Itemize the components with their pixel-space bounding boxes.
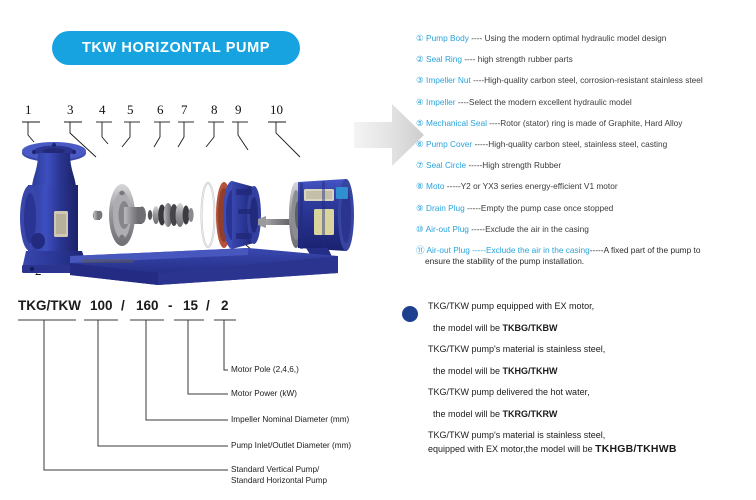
page-title-banner: TKW HORIZONTAL PUMP xyxy=(52,31,300,65)
part-item: ② Seal Ring ---- high strength rubber pa… xyxy=(416,54,752,65)
part-number: ⑤ xyxy=(416,118,424,128)
part-number: ② xyxy=(416,54,424,64)
part-description: Using the modern optimal hydraulic model… xyxy=(485,33,667,43)
model-code-label-impeller-dia: Impeller Nominal Diameter (mm) xyxy=(231,415,349,426)
part-name: Pump Body xyxy=(426,33,469,43)
part-item: ③ Impeller Nut ----High-quality carbon s… xyxy=(416,75,752,86)
part-item: ① Pump Body ---- Using the modern optima… xyxy=(416,33,752,44)
variant-main: TKG/TKW pump delivered the hot water, xyxy=(400,386,752,398)
part-item: ⑥ Pump Cover -----High-quality carbon st… xyxy=(416,139,752,150)
page-title: TKW HORIZONTAL PUMP xyxy=(82,40,270,56)
callout-number-3: 3 xyxy=(67,102,74,118)
parts-list: ① Pump Body ---- Using the modern optima… xyxy=(416,33,752,278)
variant-sub: the model will be TKRG/TKRW xyxy=(400,408,752,420)
part-description: High strength Rubber xyxy=(482,160,561,170)
part-description: Empty the pump case once stopped xyxy=(481,203,613,213)
model-code-leader-lines xyxy=(18,298,400,496)
part-name: Drain Plug xyxy=(426,203,465,213)
part-item: ⑧ Moto -----Y2 or YX3 series energy-effi… xyxy=(416,181,752,192)
variant-code: TKRG/TKRW xyxy=(503,409,558,419)
part-dash: ---- xyxy=(473,75,484,85)
callout-number-6: 6 xyxy=(157,102,164,118)
part-name: Seal Ring xyxy=(426,54,462,64)
variant-sub-text: equipped with EX motor,the model will be xyxy=(428,444,595,454)
bullet-icon xyxy=(402,306,418,322)
callout-number-10: 10 xyxy=(270,102,283,118)
variant-sub: the model will be TKHG/TKHW xyxy=(400,365,752,377)
part-item: ⑦ Seal Circle -----High strength Rubber xyxy=(416,160,752,171)
part-number: ⑦ xyxy=(416,160,424,170)
model-code-breakdown: TKG/TKW 100 / 160 - 15 / 2 Motor xyxy=(18,298,400,496)
model-code-label-motor-pole: Motor Pole (2,4,6,) xyxy=(231,365,299,376)
part-dash: ----- xyxy=(474,139,488,149)
part-number: ⑥ xyxy=(416,139,424,149)
part-name: Moto xyxy=(426,181,444,191)
part-name: Impeller Nut xyxy=(426,75,471,85)
part-number: ⑧ xyxy=(416,181,424,191)
part-description: high strength rubber parts xyxy=(478,54,573,64)
pump-assembly-illustration xyxy=(8,123,368,290)
variant-sub: equipped with EX motor,the model will be… xyxy=(400,443,752,455)
variant-code: TKHGB/TKHWB xyxy=(595,443,677,455)
variant-sub-text: the model will be xyxy=(433,366,503,376)
callout-number-1: 1 xyxy=(25,102,32,118)
part-dash-2: ----- xyxy=(590,245,604,255)
part-name: Impeller xyxy=(426,97,456,107)
callout-number-7: 7 xyxy=(181,102,188,118)
part-item: ⑨ Drain Plug -----Empty the pump case on… xyxy=(416,203,752,214)
exploded-view-figure: 1 3 4 5 6 7 8 9 10 2 11 xyxy=(8,95,368,290)
part-description: Exclude the air in the casing xyxy=(485,224,589,234)
part-item: ④ Impeller ----Select the modern excelle… xyxy=(416,97,752,108)
model-code-label-motor-power: Motor Power (kW) xyxy=(231,389,297,400)
part-number: ⑪ xyxy=(416,245,425,255)
callout-number-9: 9 xyxy=(235,102,242,118)
part-description: High-quality carbon steel, corrosion-res… xyxy=(484,75,703,85)
part-number: ③ xyxy=(416,75,424,85)
part-dash: ----- xyxy=(447,181,461,191)
variant-sub-text: the model will be xyxy=(433,409,503,419)
part-item: ⑤ Mechanical Seal ----Rotor (stator) rin… xyxy=(416,118,752,129)
part-dash: ----- xyxy=(468,160,482,170)
callout-number-4: 4 xyxy=(99,102,106,118)
part-description: Rotor (stator) ring is made of Graphite,… xyxy=(500,118,682,128)
variant-code: TKHG/TKHW xyxy=(503,366,558,376)
part-item-last: ⑪ Air-out Plug -----Exclude the air in t… xyxy=(416,245,752,268)
part-number: ⑩ xyxy=(416,224,424,234)
part-description: Select the modern excellent hydraulic mo… xyxy=(469,97,632,107)
part-number: ⑨ xyxy=(416,203,424,213)
part-number: ① xyxy=(416,33,424,43)
callout-number-5: 5 xyxy=(127,102,134,118)
part-dash: ---- xyxy=(489,118,500,128)
variant-sub: the model will be TKBG/TKBW xyxy=(400,322,752,334)
part-name: Air-out Plug xyxy=(426,224,469,234)
part-name: Pump Cover xyxy=(426,139,472,149)
part-description-dark-2: ensure the stability of the pump install… xyxy=(416,256,584,268)
variant-code: TKBG/TKBW xyxy=(503,323,558,333)
part-item: ⑩ Air-out Plug -----Exclude the air in t… xyxy=(416,224,752,235)
part-dash: ---- xyxy=(471,33,482,43)
pump-spec-sheet: TKW HORIZONTAL PUMP xyxy=(0,0,756,500)
variant-main: TKG/TKW pump equipped with EX motor, xyxy=(400,300,752,312)
part-description: High-quality carbon steel, stainless ste… xyxy=(488,139,667,149)
part-name: Air-out Plug xyxy=(426,245,469,255)
model-code-label-pump-type-1: Standard Vertical Pump/ xyxy=(231,465,319,476)
part-dash: ----- xyxy=(471,224,485,234)
part-dash: ---- xyxy=(464,54,475,64)
variant-sub-text: the model will be xyxy=(433,323,503,333)
part-dash: ----- xyxy=(467,203,481,213)
part-dash: ----- xyxy=(472,245,486,255)
model-code-label-pump-type-2: Standard Horizontal Pump xyxy=(231,476,327,487)
model-variants-list: TKG/TKW pump equipped with EX motor, the… xyxy=(400,300,752,465)
part-name: Mechanical Seal xyxy=(426,118,487,128)
callout-number-8: 8 xyxy=(211,102,218,118)
part-number: ④ xyxy=(416,97,424,107)
part-name: Seal Circle xyxy=(426,160,466,170)
model-code-label-inlet-dia: Pump Inlet/Outlet Diameter (mm) xyxy=(231,441,351,452)
part-description-blue: Exclude the air in the casing xyxy=(486,245,590,255)
variant-main: TKG/TKW pump's material is stainless ste… xyxy=(400,429,752,441)
part-dash: ---- xyxy=(458,97,469,107)
part-description: Y2 or YX3 series energy-efficient V1 mot… xyxy=(461,181,618,191)
part-description-dark: A fixed part of the pump to xyxy=(604,245,701,255)
variant-main: TKG/TKW pump's material is stainless ste… xyxy=(400,343,752,355)
